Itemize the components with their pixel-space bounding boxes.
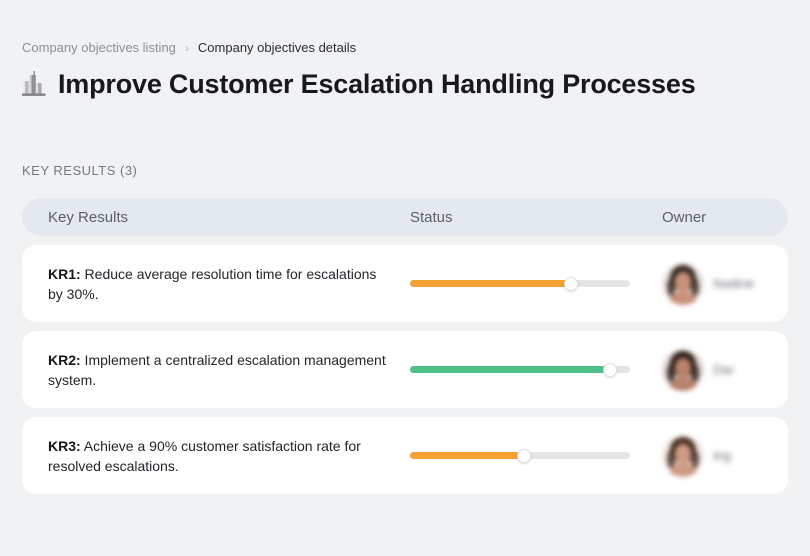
key-results-section-label: KEY RESULTS (3) [22,163,137,179]
avatar [662,435,704,477]
key-result-tag: KR1: [48,266,81,282]
owner-name: Dar [713,362,734,378]
key-result-tag: KR2: [48,352,81,368]
breadcrumb-current-company-objectives-details: Company objectives details [198,40,356,56]
column-header-owner: Owner [662,208,788,227]
progress-fill [410,366,610,373]
column-header-key-results: Key Results [22,208,410,227]
column-header-status: Status [410,208,662,227]
key-result-text: Reduce average resolution time for escal… [48,266,376,302]
key-results-table: Key Results Status Owner KR1: Reduce ave… [22,198,788,494]
chevron-right-icon: › [185,40,189,56]
key-result-tag: KR3: [48,438,81,454]
progress-fill [410,452,524,459]
progress-knob[interactable] [603,363,617,377]
owner-cell[interactable]: Ing [662,435,788,477]
progress-fill [410,280,571,287]
avatar [662,263,704,305]
status-cell [410,449,662,463]
key-result-text: Implement a centralized escalation manag… [48,352,386,388]
table-header-row: Key Results Status Owner [22,198,788,236]
progress-knob[interactable] [564,277,578,291]
page-title: Improve Customer Escalation Handling Pro… [58,67,696,101]
progress-knob[interactable] [517,449,531,463]
owner-name: Nadine [713,276,754,292]
page-title-row: Improve Customer Escalation Handling Pro… [21,67,696,101]
owner-cell[interactable]: Dar [662,349,788,391]
progress-slider[interactable] [410,277,630,291]
key-result-cell: KR2: Implement a centralized escalation … [22,350,410,390]
status-cell [410,277,662,291]
key-result-text: Achieve a 90% customer satisfaction rate… [48,438,361,474]
avatar [662,349,704,391]
table-body: KR1: Reduce average resolution time for … [22,245,788,494]
cityscape-buildings-icon [21,70,47,98]
status-cell [410,363,662,377]
table-row[interactable]: KR1: Reduce average resolution time for … [22,245,788,322]
progress-slider[interactable] [410,449,630,463]
key-result-cell: KR3: Achieve a 90% customer satisfaction… [22,436,410,476]
breadcrumb: Company objectives listing › Company obj… [22,40,356,56]
progress-slider[interactable] [410,363,630,377]
table-row[interactable]: KR2: Implement a centralized escalation … [22,331,788,408]
key-result-cell: KR1: Reduce average resolution time for … [22,264,410,304]
table-row[interactable]: KR3: Achieve a 90% customer satisfaction… [22,417,788,494]
owner-cell[interactable]: Nadine [662,263,788,305]
owner-name: Ing [713,448,731,464]
breadcrumb-link-company-objectives-listing[interactable]: Company objectives listing [22,40,176,56]
